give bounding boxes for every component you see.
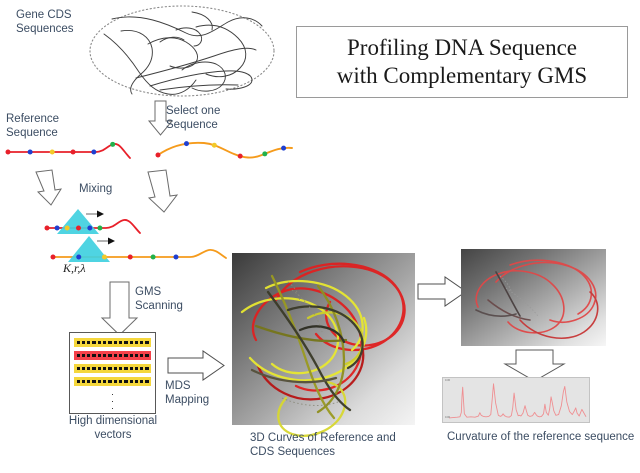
label-gene-cds-sequences: Gene CDS Sequences — [16, 9, 74, 36]
vector-cell — [135, 354, 138, 357]
vector-cell — [98, 380, 101, 383]
vector-cell — [140, 341, 143, 344]
vector-cell — [98, 341, 101, 344]
vector-row — [74, 377, 151, 386]
vector-cell — [135, 367, 138, 370]
vector-cell — [77, 367, 80, 370]
selected-sequence-curve — [158, 143, 292, 158]
vector-row — [74, 364, 151, 373]
sequence-node — [184, 141, 189, 146]
vector-cell — [103, 341, 106, 344]
vector-cell — [77, 354, 80, 357]
vector-cell — [108, 367, 111, 370]
vector-cell — [145, 380, 148, 383]
sequence-node — [110, 142, 115, 147]
vector-cell — [98, 367, 101, 370]
vector-cell — [130, 354, 133, 357]
vector-cell — [87, 367, 90, 370]
sequence-node — [87, 226, 92, 231]
sequence-node — [51, 255, 56, 260]
chart-tick-bottom: 0.00 — [445, 416, 450, 419]
sequence-node — [156, 153, 161, 158]
arrow-gms-scanning — [102, 282, 137, 335]
vector-cell — [124, 380, 127, 383]
vector-cell — [119, 367, 122, 370]
sequence-node — [281, 146, 286, 151]
vector-cell — [87, 380, 90, 383]
panel-3d-curves — [232, 253, 415, 436]
vector-cell — [130, 380, 133, 383]
sequence-node — [28, 150, 33, 155]
sequence-node — [128, 255, 133, 260]
vector-row — [74, 351, 151, 360]
vector-cell — [103, 380, 106, 383]
gene-cds-ellipse-group — [90, 6, 274, 96]
sequence-node — [71, 150, 76, 155]
vector-cell — [92, 380, 95, 383]
vector-cell — [108, 380, 111, 383]
panel-3d-reference — [461, 249, 606, 346]
vector-cell — [87, 354, 90, 357]
vector-cell — [119, 341, 122, 344]
arrow-mixing-right — [148, 170, 177, 212]
arrow-extract-reference — [418, 277, 466, 306]
sequence-node — [238, 154, 243, 159]
sequence-node — [262, 151, 267, 156]
vector-cell — [92, 354, 95, 357]
vector-cell — [145, 367, 148, 370]
gene-cds-tangle — [104, 12, 262, 94]
curvature-chart: 0.30 0.00 — [442, 377, 590, 423]
vector-cell — [82, 354, 85, 357]
vector-cell — [135, 380, 138, 383]
vector-cell — [119, 380, 122, 383]
sequence-node — [50, 150, 55, 155]
vector-cell — [114, 354, 117, 357]
vector-cell — [92, 367, 95, 370]
sequence-node — [151, 255, 156, 260]
vector-cell — [114, 380, 117, 383]
vector-cell — [124, 354, 127, 357]
vector-cell — [140, 367, 143, 370]
vector-cell — [108, 341, 111, 344]
arrow-mds-mapping — [168, 351, 224, 380]
sequence-node — [76, 255, 81, 260]
sequence-node — [55, 226, 60, 231]
sequence-node — [102, 255, 107, 260]
vector-row — [74, 338, 151, 347]
vector-cell — [114, 341, 117, 344]
vector-cell — [140, 354, 143, 357]
sequence-node — [212, 143, 217, 148]
vector-ellipsis-dot: · — [70, 405, 155, 412]
vector-cell — [130, 367, 133, 370]
label-gms-scanning: GMS Scanning — [135, 286, 183, 313]
sequence-node — [97, 226, 102, 231]
vector-cell — [103, 367, 106, 370]
label-3d-curves-caption: 3D Curves of Reference and CDS Sequences — [250, 432, 396, 459]
diagram-canvas: Profiling DNA Sequence with Complementar… — [0, 0, 640, 473]
vector-cell — [82, 380, 85, 383]
label-parameters-k-r-lambda: K,r,λ — [63, 262, 86, 276]
vector-cell — [114, 367, 117, 370]
sequence-node — [65, 226, 70, 231]
vector-cell — [108, 354, 111, 357]
vector-cell — [124, 367, 127, 370]
vector-cell — [98, 354, 101, 357]
sequence-node — [6, 150, 11, 155]
sequence-node — [91, 150, 96, 155]
vector-cell — [124, 341, 127, 344]
vector-cell — [140, 380, 143, 383]
mixed-reference-sequence — [46, 209, 140, 234]
chart-tick-top: 0.30 — [445, 379, 450, 382]
vector-cell — [82, 341, 85, 344]
vector-rows: ··· — [70, 333, 155, 413]
label-reference-sequence: Reference Sequence — [6, 113, 59, 140]
vector-cell — [87, 341, 90, 344]
sequence-node — [76, 226, 81, 231]
vector-cell — [119, 354, 122, 357]
vector-cell — [77, 341, 80, 344]
sequence-node — [173, 255, 178, 260]
label-curvature-caption: Curvature of the reference sequence — [447, 431, 634, 445]
vector-cell — [82, 367, 85, 370]
vector-cell — [135, 341, 138, 344]
label-select-one-sequence: Select one Sequence — [166, 105, 220, 132]
vector-cell — [103, 354, 106, 357]
vector-cell — [145, 341, 148, 344]
gene-cds-ellipse — [90, 6, 274, 96]
label-mixing: Mixing — [79, 183, 112, 197]
label-high-dimensional-vectors: High dimensional vectors — [66, 415, 160, 442]
high-dimensional-vectors-box: ··· — [69, 332, 156, 414]
vector-cell — [145, 354, 148, 357]
label-mds-mapping: MDS Mapping — [165, 380, 209, 407]
arrow-mixing-left — [36, 170, 61, 205]
selected-sequence-nodes — [156, 141, 287, 159]
curvature-plot-svg — [443, 378, 589, 422]
vector-cell — [77, 380, 80, 383]
vector-cell — [130, 341, 133, 344]
sequence-node — [45, 226, 50, 231]
vector-cell — [92, 341, 95, 344]
